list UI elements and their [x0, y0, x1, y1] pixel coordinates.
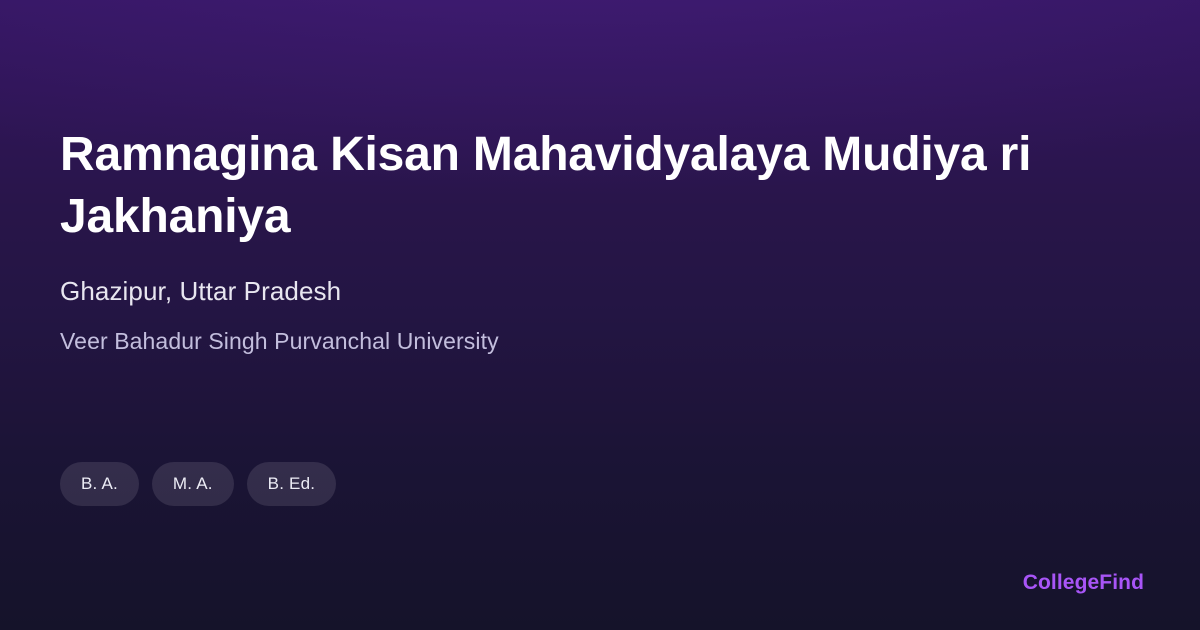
brand-logo: CollegeFind	[1023, 570, 1144, 596]
affiliated-university: Veer Bahadur Singh Purvanchal University	[60, 326, 499, 357]
course-pill: B. Ed.	[247, 462, 337, 506]
college-title: Ramnagina Kisan Mahavidyalaya Mudiya ri …	[60, 124, 1092, 248]
college-location: Ghazipur, Uttar Pradesh	[60, 274, 341, 308]
course-pill: M. A.	[152, 462, 234, 506]
og-share-card: Ramnagina Kisan Mahavidyalaya Mudiya ri …	[0, 0, 1200, 630]
course-pill-list: B. A. M. A. B. Ed.	[60, 462, 336, 506]
card-content: Ramnagina Kisan Mahavidyalaya Mudiya ri …	[60, 0, 1144, 630]
course-pill: B. A.	[60, 462, 139, 506]
